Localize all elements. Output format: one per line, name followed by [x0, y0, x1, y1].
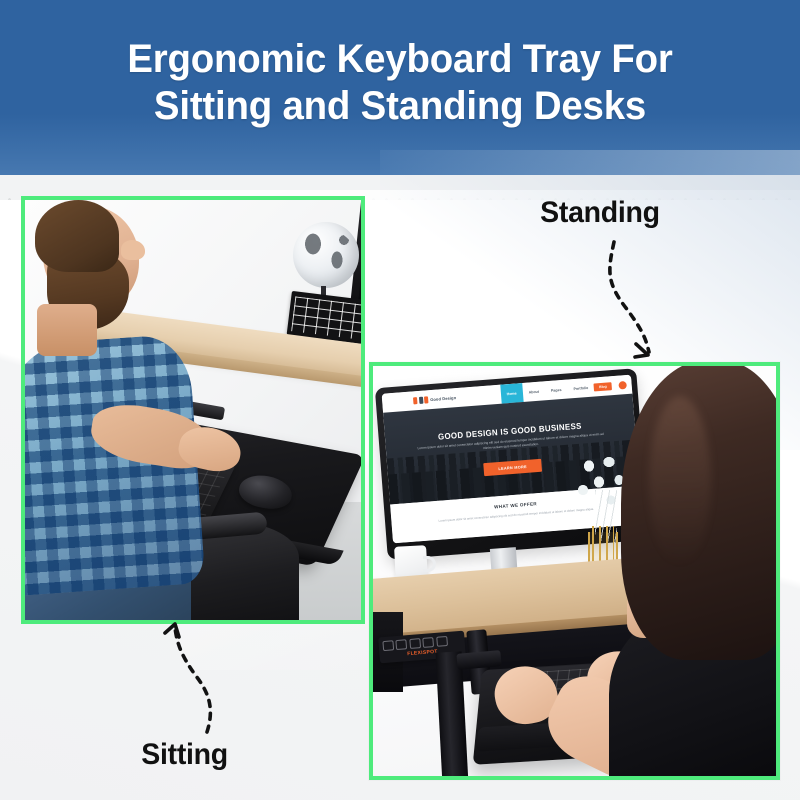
navbar-spacer	[456, 394, 501, 397]
person-nose	[121, 240, 145, 260]
nav-item-pages: Pages	[545, 387, 568, 393]
person-hair-highlight	[649, 396, 711, 566]
callout-label-sitting: Sitting	[141, 738, 228, 772]
callout-label-standing: Standing	[540, 196, 660, 230]
standing-desk-photo: Good Design Home About Pages Portfolio B…	[369, 362, 780, 780]
product-marketing-image: Ergonomic Keyboard Tray For Sitting and …	[0, 0, 800, 800]
website-logo-text: Good Design	[430, 395, 456, 402]
standing-scene: Good Design Home About Pages Portfolio B…	[373, 366, 776, 776]
callout-arrow-sitting	[160, 620, 240, 740]
calendar-grid	[291, 296, 361, 340]
nav-item-home: Home	[500, 383, 523, 404]
nav-item-portfolio: Portfolio	[567, 385, 594, 391]
callout-arrow-standing	[600, 236, 680, 366]
sitting-desk-photo	[21, 196, 365, 624]
page-title: Ergonomic Keyboard Tray For Sitting and …	[16, 36, 784, 130]
nav-item-about: About	[522, 389, 545, 395]
nav-cta-button: Blog	[594, 382, 612, 391]
shopping-cart-icon	[618, 380, 627, 389]
sitting-scene	[25, 200, 361, 620]
person-hair	[35, 200, 119, 272]
person-neck	[37, 304, 97, 356]
globe-landmasses	[297, 230, 355, 280]
website-logo-icon	[413, 396, 428, 404]
